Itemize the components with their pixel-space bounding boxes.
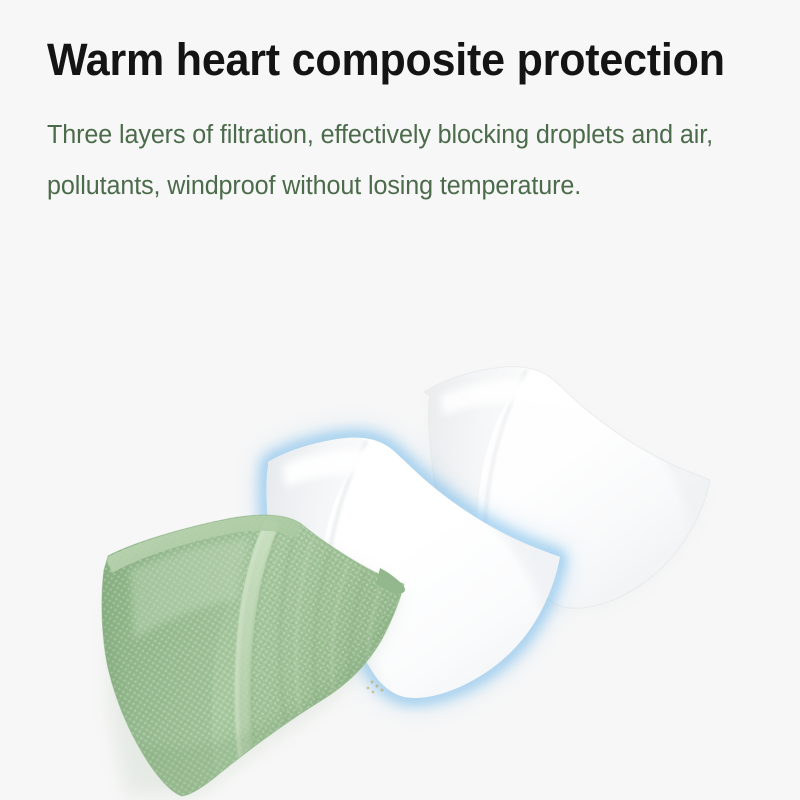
headline-block: Warm heart composite protection Three la… [47, 32, 762, 212]
page-title: Warm heart composite protection [47, 32, 730, 88]
product-feature-banner: Warm heart composite protection Three la… [0, 0, 800, 800]
page-subtitle: Three layers of filtration, effectively … [47, 110, 751, 212]
